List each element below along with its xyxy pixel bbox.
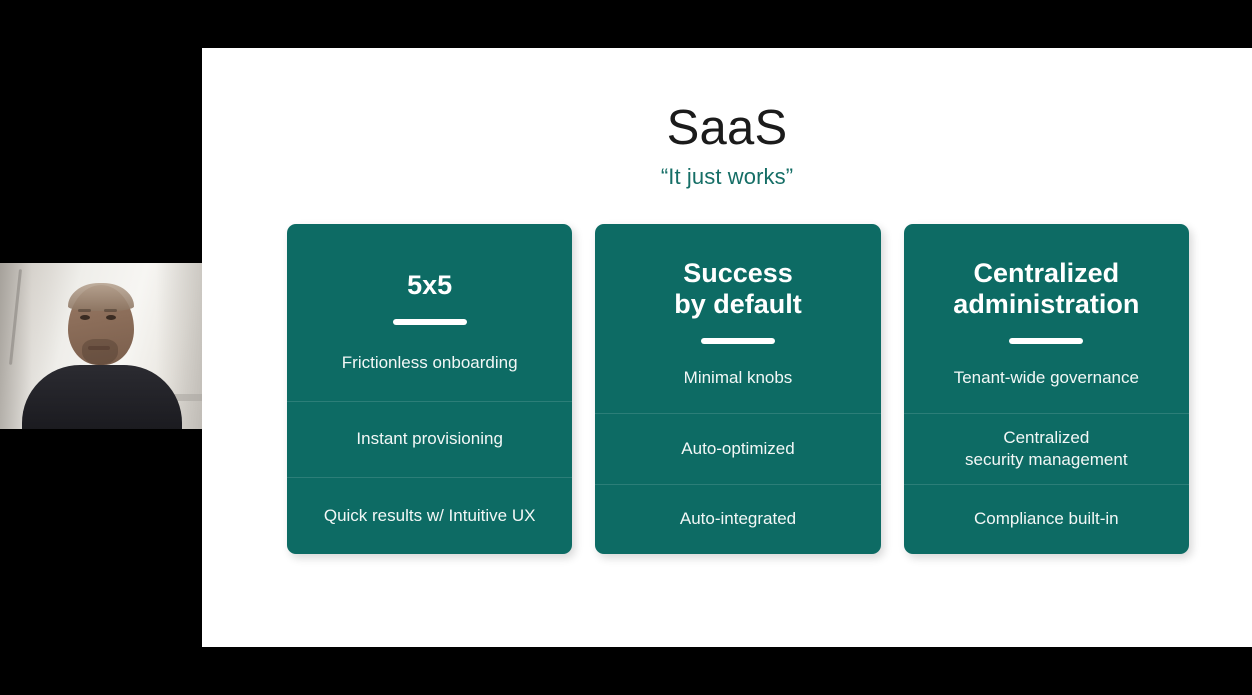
card-2-title: Success by default <box>611 258 864 320</box>
slide-title-block: SaaS “It just works” <box>202 102 1252 190</box>
slide-canvas: SaaS “It just works” 5x5 Frictionless on… <box>202 48 1252 647</box>
card-3-row-1: Tenant-wide governance <box>904 344 1189 413</box>
presenter-eye-left <box>80 315 90 320</box>
slide-subtitle: “It just works” <box>202 164 1252 190</box>
card-3-row-list: Tenant-wide governance Centralized secur… <box>904 344 1189 554</box>
card-3-header: Centralized administration <box>904 224 1189 344</box>
card-1-row-2: Instant provisioning <box>287 401 572 478</box>
card-3-row-3: Compliance built-in <box>904 484 1189 554</box>
card-1-header: 5x5 <box>287 224 572 325</box>
presenter-beard <box>82 339 118 365</box>
presenter-video-thumbnail[interactable] <box>0 263 202 429</box>
card-3-row-2: Centralized security management <box>904 413 1189 483</box>
card-1-row-3: Quick results w/ Intuitive UX <box>287 477 572 554</box>
feature-card-3[interactable]: Centralized administration Tenant-wide g… <box>904 224 1189 554</box>
card-2-row-3: Auto-integrated <box>595 484 880 554</box>
card-2-row-2: Auto-optimized <box>595 413 880 483</box>
card-2-row-1: Minimal knobs <box>595 344 880 413</box>
card-1-title: 5x5 <box>303 270 556 301</box>
presenter-brow-right <box>104 309 117 312</box>
feature-card-group: 5x5 Frictionless onboarding Instant prov… <box>287 224 1189 554</box>
feature-card-1[interactable]: 5x5 Frictionless onboarding Instant prov… <box>287 224 572 554</box>
card-2-row-list: Minimal knobs Auto-optimized Auto-integr… <box>595 344 880 554</box>
card-1-row-list: Frictionless onboarding Instant provisio… <box>287 325 572 554</box>
feature-card-2[interactable]: Success by default Minimal knobs Auto-op… <box>595 224 880 554</box>
presenter-mouth <box>88 346 110 350</box>
card-2-header: Success by default <box>595 224 880 344</box>
card-1-row-1: Frictionless onboarding <box>287 325 572 401</box>
slide-title: SaaS <box>202 102 1252 155</box>
presenter-eye-right <box>106 315 116 320</box>
presenter-brow-left <box>78 309 91 312</box>
presentation-stage: SaaS “It just works” 5x5 Frictionless on… <box>0 0 1252 695</box>
card-3-title: Centralized administration <box>920 258 1173 320</box>
